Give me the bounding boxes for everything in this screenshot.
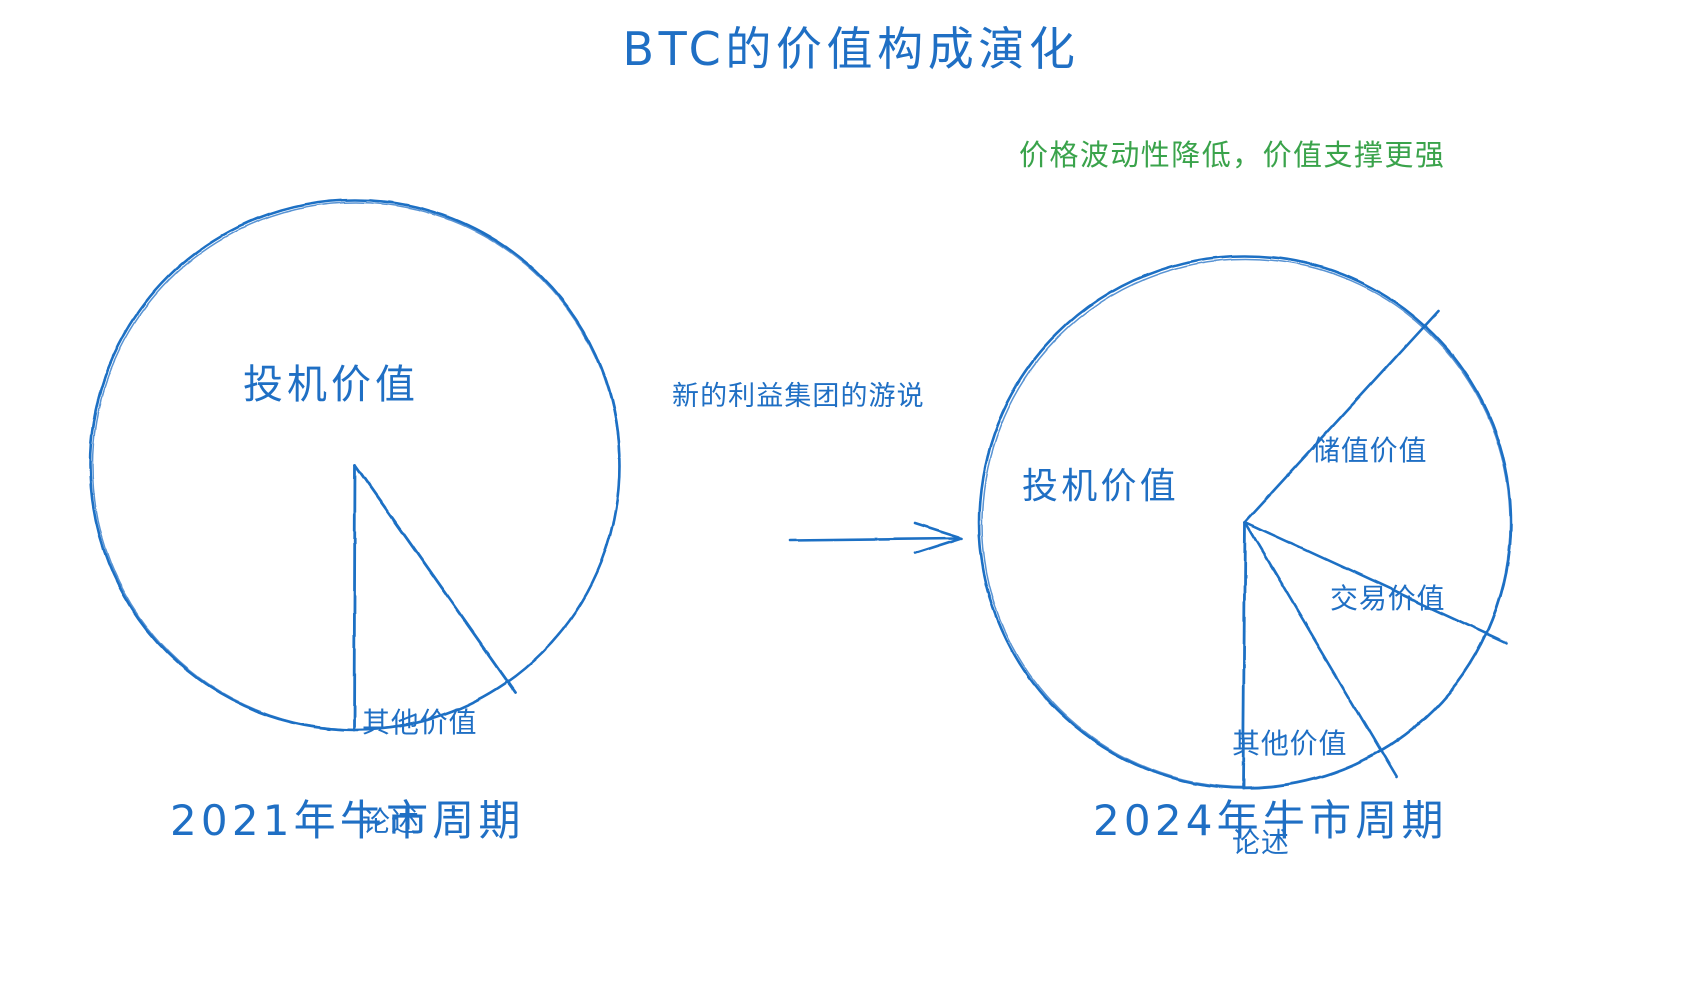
right-slice-label-store-of-value: 储值价值 bbox=[1312, 434, 1427, 467]
arrow-shaft bbox=[790, 538, 960, 540]
left-slice-divider-down bbox=[354, 465, 355, 730]
left-slice-label-other: 其他价值 论述 bbox=[362, 640, 477, 904]
right-chart-caption: 2024年牛市周期 bbox=[1093, 796, 1448, 846]
right-divider-store-start bbox=[1245, 311, 1438, 522]
diagram-canvas: BTC的价值构成演化 价格波动性降低，价值支撑更强 新的利益集团的游说 投机价值… bbox=[0, 0, 1702, 992]
left-pie-chart bbox=[90, 200, 620, 730]
right-slice-label-speculative: 投机价值 bbox=[1022, 466, 1179, 508]
right-slice-label-transaction: 交易价值 bbox=[1330, 582, 1445, 615]
left-other-label-line1: 其他价值 bbox=[362, 706, 477, 739]
left-slice-label-speculative: 投机价值 bbox=[243, 362, 419, 409]
page-title: BTC的价值构成演化 bbox=[0, 22, 1702, 76]
left-chart-caption: 2021年牛市周期 bbox=[170, 796, 525, 846]
transition-arrow bbox=[790, 523, 962, 553]
arrow-caption: 新的利益集团的游说 bbox=[672, 381, 925, 413]
right-slice-label-other: 其他价值 论述 bbox=[1232, 661, 1347, 925]
volatility-annotation: 价格波动性降低，价值支撑更强 bbox=[1019, 138, 1445, 172]
right-other-label-line1: 其他价值 bbox=[1232, 727, 1347, 760]
